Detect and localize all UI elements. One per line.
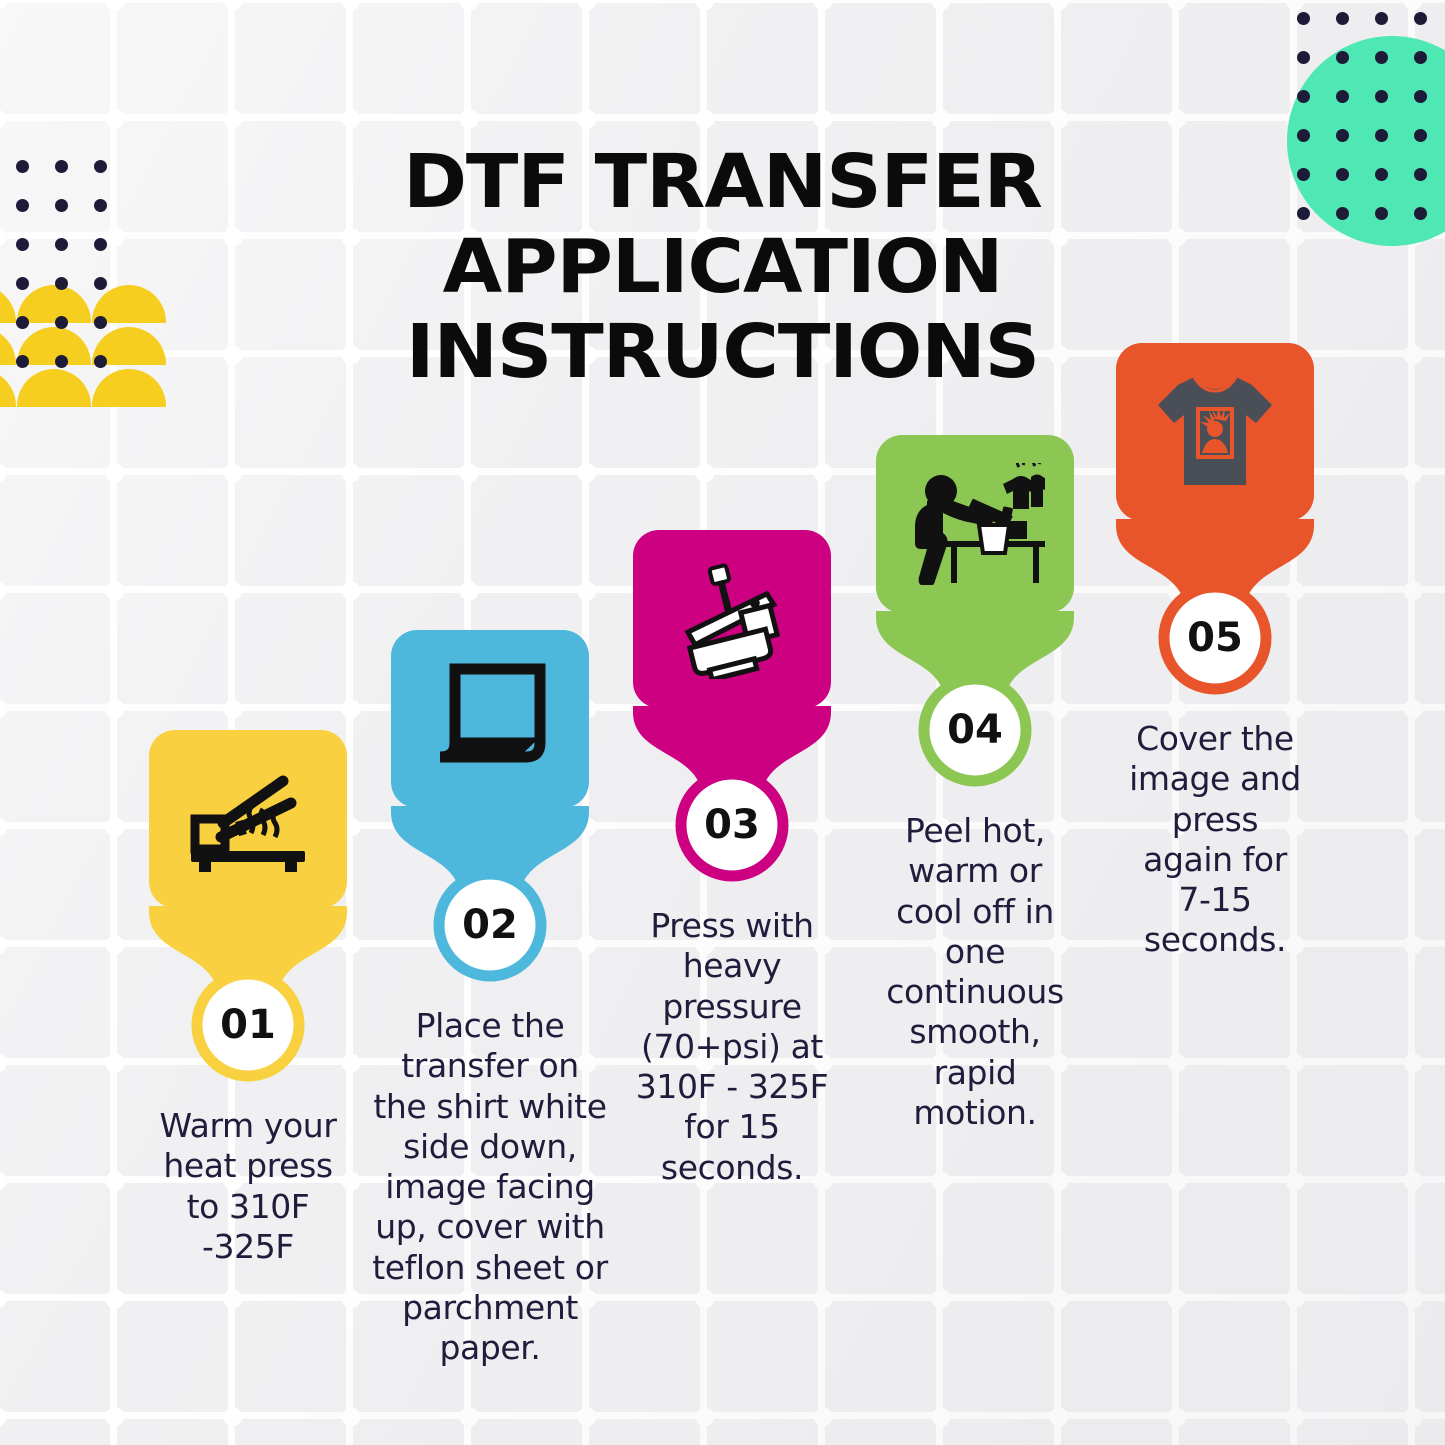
- step-04-icon-card: [876, 435, 1074, 613]
- step-03-number: 03: [673, 766, 791, 884]
- step-01-number: 01: [189, 966, 307, 1084]
- step-05-icon-card: [1116, 343, 1314, 521]
- dot: [1414, 51, 1427, 64]
- step-05: 05 Cover the image and press again for 7…: [1095, 343, 1335, 961]
- heat-press-open-icon: [183, 763, 313, 875]
- heat-press-machine-icon: [668, 559, 796, 679]
- dot: [1336, 51, 1349, 64]
- step-02-number: 02: [431, 866, 549, 984]
- step-01-badge-wrap: 01: [189, 966, 307, 1084]
- step-01-text: Warm your heat press to 310F -325F: [128, 1106, 368, 1267]
- dot: [1375, 90, 1388, 103]
- transfer-sheet-icon: [428, 661, 552, 777]
- step-02-icon-card: [391, 630, 589, 808]
- step-03-text: Press with heavy pressure (70+psi) at 31…: [612, 906, 852, 1188]
- step-03: 03 Press with heavy pressure (70+psi) at…: [612, 530, 852, 1188]
- step-04-number: 04: [916, 671, 1034, 789]
- step-04-text: Peel hot, warm or cool off in one contin…: [855, 811, 1095, 1133]
- dot: [1297, 90, 1310, 103]
- dot: [1336, 90, 1349, 103]
- dot: [1414, 90, 1427, 103]
- printed-tshirt-icon: [1150, 371, 1280, 493]
- dot: [1375, 12, 1388, 25]
- dot: [1375, 51, 1388, 64]
- step-01-icon-card: [149, 730, 347, 908]
- step-01: 01 Warm your heat press to 310F -325F: [128, 730, 368, 1267]
- step-02-badge-wrap: 02: [431, 866, 549, 984]
- step-04: 04 Peel hot, warm or cool off in one con…: [855, 435, 1095, 1133]
- dot: [1336, 12, 1349, 25]
- dot: [1297, 51, 1310, 64]
- dot: [1297, 12, 1310, 25]
- step-03-badge-wrap: 03: [673, 766, 791, 884]
- step-05-badge-wrap: 05: [1156, 579, 1274, 697]
- person-peeling-transfer-icon: [905, 463, 1045, 585]
- step-04-badge-wrap: 04: [916, 671, 1034, 789]
- step-05-number: 05: [1156, 579, 1274, 697]
- dot: [1414, 12, 1427, 25]
- step-02-text: Place the transfer on the shirt white si…: [370, 1006, 610, 1368]
- step-02: 02 Place the transfer on the shirt white…: [370, 630, 610, 1368]
- infographic-poster: DTF TRANSFER APPLICATION INSTRUCTIONS: [0, 0, 1445, 1445]
- step-05-text: Cover the image and press again for 7-15…: [1095, 719, 1335, 961]
- step-03-icon-card: [633, 530, 831, 708]
